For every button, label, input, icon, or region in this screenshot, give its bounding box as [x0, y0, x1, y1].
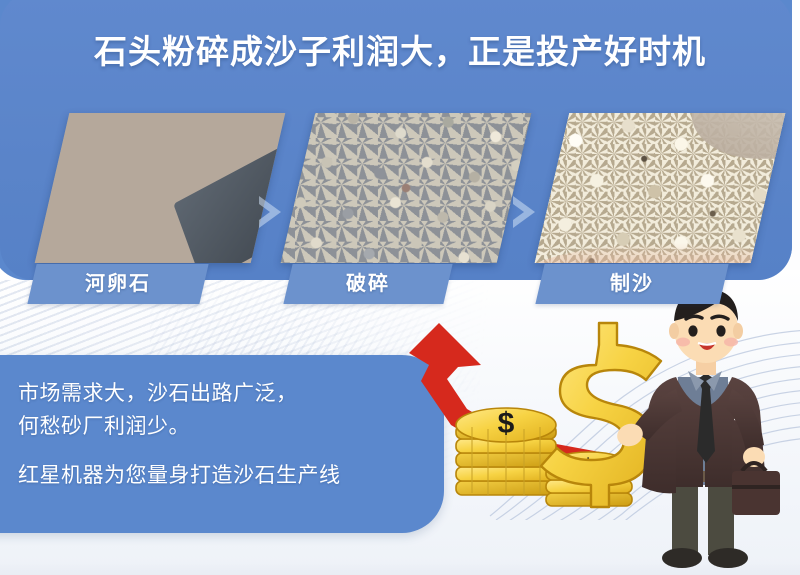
dollar-sign-icon: $: [498, 407, 515, 440]
step-label-text: 河卵石: [32, 264, 204, 304]
step-photo-manufactured-sand: [535, 113, 786, 263]
page-title: 石头粉碎成沙子利润大，正是投产好时机: [0, 25, 800, 73]
step-label-crushing: 破碎: [283, 264, 452, 304]
businessman-icon: [614, 289, 780, 568]
step-photo-river-pebbles: [35, 113, 286, 263]
river-pebbles-photo: [35, 113, 286, 263]
coin-stack-icon: $: [456, 407, 556, 495]
step-label-text: 制沙: [540, 264, 724, 304]
copy-line-1: 市场需求大，沙石出路广泛，: [18, 377, 404, 410]
chevron-right-icon: [253, 193, 287, 231]
marketing-copy-lines: 市场需求大，沙石出路广泛， 何愁砂厂利润少。 红星机器为您量身打造沙石生产线: [18, 377, 404, 492]
manufactured-sand-photo: [535, 113, 786, 263]
business-illustration: $ $: [440, 285, 800, 575]
crushed-gravel-photo: [281, 113, 532, 263]
step-label-sand-making: 制沙: [535, 264, 728, 304]
copy-line-2: 何愁砂厂利润少。: [18, 410, 404, 443]
step-label-text: 破碎: [288, 264, 448, 304]
chevron-right-icon: [507, 193, 541, 231]
marketing-copy-panel: 市场需求大，沙石出路广泛， 何愁砂厂利润少。 红星机器为您量身打造沙石生产线: [0, 355, 444, 533]
step-photo-crushed-gravel: [281, 113, 532, 263]
poster-canvas: 石头粉碎成沙子利润大，正是投产好时机 河卵石 破碎 制沙 市场需求大，沙石出路广…: [0, 0, 800, 575]
copy-line-3: 红星机器为您量身打造沙石生产线: [18, 459, 404, 492]
step-label-river-pebbles: 河卵石: [27, 264, 208, 304]
